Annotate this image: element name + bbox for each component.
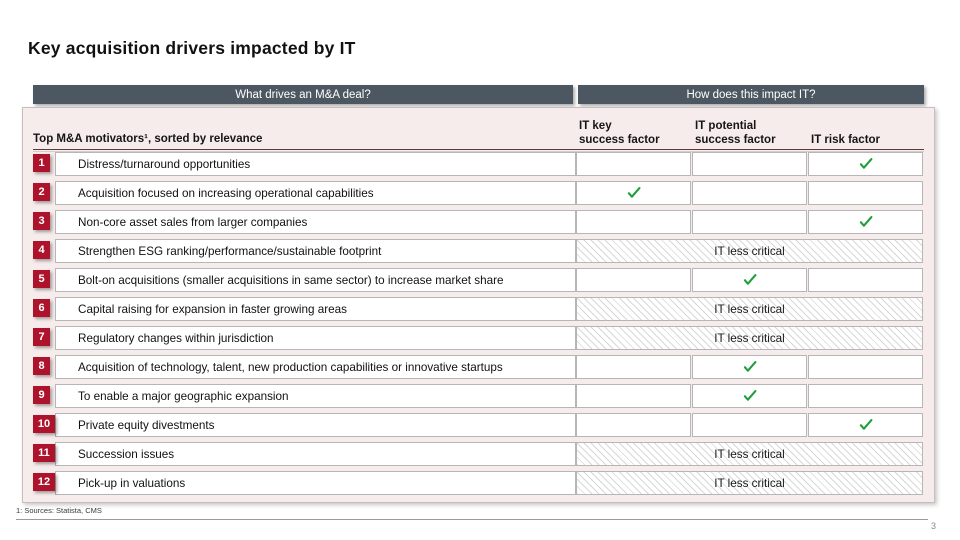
it-potential-success-factor-cell: [692, 210, 807, 234]
motivator-label-cell: Capital raising for expansion in faster …: [55, 297, 576, 321]
banner-left-label: What drives an M&A deal?: [235, 89, 371, 101]
it-key-success-factor-cell: [576, 152, 691, 176]
it-risk-factor-cell: [808, 210, 923, 234]
footnote-divider: [16, 519, 928, 520]
table-row: 3Non-core asset sales from larger compan…: [22, 210, 935, 239]
slide-canvas: Key acquisition drivers impacted by IT W…: [0, 0, 960, 540]
banner-right-label: How does this impact IT?: [686, 89, 815, 101]
page-title: Key acquisition drivers impacted by IT: [28, 38, 356, 59]
it-potential-success-factor-cell: [692, 384, 807, 408]
column-header-it-potential-success-factor: IT potential success factor: [695, 120, 776, 147]
rank-badge: 4: [33, 241, 50, 259]
rank-badge: 10: [33, 415, 55, 433]
rank-badge: 11: [33, 444, 55, 462]
rank-badge: 6: [33, 299, 50, 317]
it-risk-factor-cell: [808, 413, 923, 437]
it-less-critical-cell: IT less critical: [576, 239, 923, 263]
it-key-success-factor-cell: [576, 268, 691, 292]
table-row: 8Acquisition of technology, talent, new …: [22, 355, 935, 384]
rank-badge: 2: [33, 183, 50, 201]
motivator-label-cell: Acquisition focused on increasing operat…: [55, 181, 576, 205]
column-header-motivators: Top M&A motivators¹, sorted by relevance: [33, 133, 262, 147]
it-potential-success-factor-cell: [692, 413, 807, 437]
it-risk-factor-cell: [808, 152, 923, 176]
it-less-critical-cell: IT less critical: [576, 326, 923, 350]
motivator-label-cell: Pick-up in valuations: [55, 471, 576, 495]
it-potential-success-factor-cell: [692, 181, 807, 205]
check-mark-icon: [627, 186, 641, 200]
it-less-critical-cell: IT less critical: [576, 471, 923, 495]
it-potential-success-factor-cell: [692, 152, 807, 176]
table-row: 6Capital raising for expansion in faster…: [22, 297, 935, 326]
rank-badge: 12: [33, 473, 55, 491]
table-row: 5Bolt-on acquisitions (smaller acquisiti…: [22, 268, 935, 297]
it-key-success-factor-cell: [576, 181, 691, 205]
check-mark-icon: [743, 360, 757, 374]
rank-badge: 3: [33, 212, 50, 230]
column-header-it-risk-factor: IT risk factor: [811, 134, 880, 148]
motivator-label-cell: Private equity divestments: [55, 413, 576, 437]
check-mark-icon: [743, 273, 757, 287]
it-risk-factor-cell: [808, 268, 923, 292]
motivator-label-cell: Regulatory changes within jurisdiction: [55, 326, 576, 350]
rank-badge: 9: [33, 386, 50, 404]
table-row: 4Strengthen ESG ranking/performance/sust…: [22, 239, 935, 268]
it-key-success-factor-cell: [576, 210, 691, 234]
it-key-success-factor-cell: [576, 355, 691, 379]
table-row: 10Private equity divestments: [22, 413, 935, 442]
it-key-success-factor-cell: [576, 413, 691, 437]
rank-badge: 8: [33, 357, 50, 375]
page-number: 3: [931, 521, 936, 531]
table-row: 9To enable a major geographic expansion: [22, 384, 935, 413]
motivator-label-cell: Acquisition of technology, talent, new p…: [55, 355, 576, 379]
it-potential-success-factor-cell: [692, 355, 807, 379]
check-mark-icon: [859, 215, 873, 229]
check-mark-icon: [743, 389, 757, 403]
rank-badge: 5: [33, 270, 50, 288]
banner-impact-it: How does this impact IT?: [578, 85, 924, 104]
motivator-label-cell: Non-core asset sales from larger compani…: [55, 210, 576, 234]
it-key-success-factor-cell: [576, 384, 691, 408]
rank-badge: 7: [33, 328, 50, 346]
column-header-it-key-success-factor: IT key success factor: [579, 120, 660, 147]
check-mark-icon: [859, 157, 873, 171]
rank-badge: 1: [33, 154, 50, 172]
check-mark-icon: [859, 418, 873, 432]
motivator-label-cell: To enable a major geographic expansion: [55, 384, 576, 408]
it-risk-factor-cell: [808, 181, 923, 205]
table-row: 11Succession issuesIT less critical: [22, 442, 935, 471]
table-body: 1Distress/turnaround opportunities2Acqui…: [22, 152, 935, 500]
motivator-label-cell: Distress/turnaround opportunities: [55, 152, 576, 176]
it-less-critical-cell: IT less critical: [576, 442, 923, 466]
it-less-critical-cell: IT less critical: [576, 297, 923, 321]
table-row: 2Acquisition focused on increasing opera…: [22, 181, 935, 210]
table-row: 1Distress/turnaround opportunities: [22, 152, 935, 181]
it-potential-success-factor-cell: [692, 268, 807, 292]
motivator-label-cell: Succession issues: [55, 442, 576, 466]
table-header: Top M&A motivators¹, sorted by relevance…: [22, 110, 935, 150]
motivator-label-cell: Strengthen ESG ranking/performance/susta…: [55, 239, 576, 263]
it-risk-factor-cell: [808, 355, 923, 379]
table-row: 7Regulatory changes within jurisdictionI…: [22, 326, 935, 355]
banner-what-drives-deal: What drives an M&A deal?: [33, 85, 573, 104]
table-row: 12Pick-up in valuationsIT less critical: [22, 471, 935, 500]
header-divider: [33, 149, 924, 150]
footnote: 1: Sources: Statista, CMS: [16, 506, 102, 515]
it-risk-factor-cell: [808, 384, 923, 408]
motivator-label-cell: Bolt-on acquisitions (smaller acquisitio…: [55, 268, 576, 292]
